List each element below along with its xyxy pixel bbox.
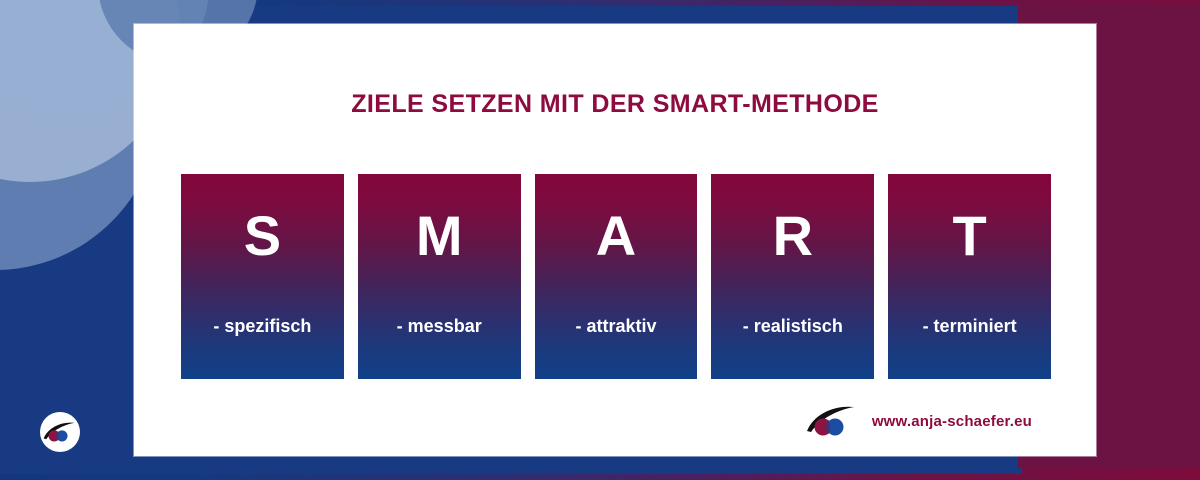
smart-cards-row: S - spezifisch M - messbar A - attraktiv… <box>181 174 1051 379</box>
smart-letter: M <box>416 208 463 264</box>
website-url[interactable]: www.anja-schaefer.eu <box>872 413 1032 430</box>
anja-schaefer-eye-logo-icon <box>806 404 858 438</box>
smart-description: - realistisch <box>711 316 874 337</box>
content-card: ZIELE SETZEN MIT DER SMART-METHODE S - s… <box>134 24 1096 456</box>
smart-card-m[interactable]: M - messbar <box>358 174 521 379</box>
brand-badge[interactable] <box>40 412 80 452</box>
smart-card-r[interactable]: R - realistisch <box>711 174 874 379</box>
smart-description: - terminiert <box>888 316 1051 337</box>
smart-description: - messbar <box>358 316 521 337</box>
smart-card-s[interactable]: S - spezifisch <box>181 174 344 379</box>
smart-card-t[interactable]: T - terminiert <box>888 174 1051 379</box>
smart-description: - attraktiv <box>535 316 698 337</box>
footer-brand[interactable]: www.anja-schaefer.eu <box>806 404 1032 438</box>
page-title: ZIELE SETZEN MIT DER SMART-METHODE <box>134 90 1096 119</box>
smart-letter: T <box>952 208 986 264</box>
smart-letter: R <box>773 208 813 264</box>
smart-letter: S <box>244 208 281 264</box>
smart-letter: A <box>596 208 636 264</box>
anja-schaefer-eye-logo-badge-icon <box>43 420 77 444</box>
slide-canvas: ZIELE SETZEN MIT DER SMART-METHODE S - s… <box>0 0 1200 480</box>
smart-description: - spezifisch <box>181 316 344 337</box>
smart-card-a[interactable]: A - attraktiv <box>535 174 698 379</box>
